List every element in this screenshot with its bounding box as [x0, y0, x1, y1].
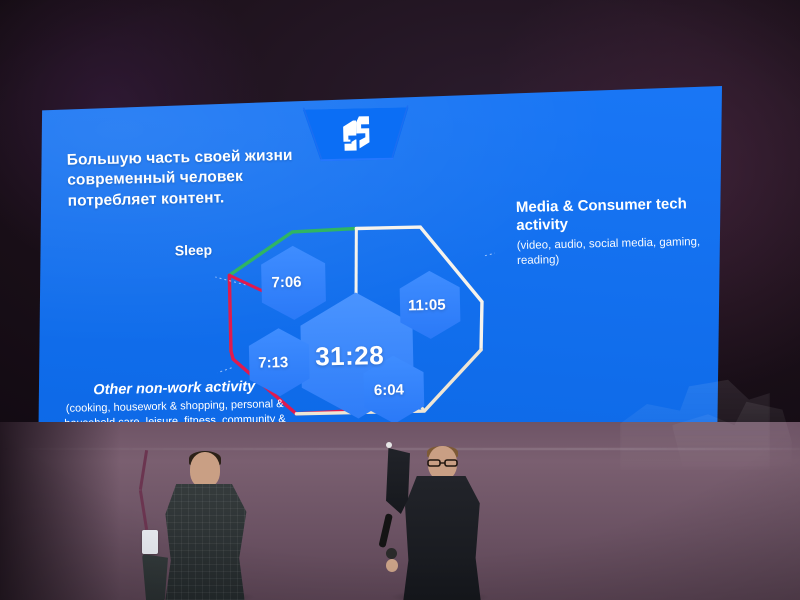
s-logo: [339, 114, 374, 155]
total-hexagon-value: 31:28: [315, 340, 385, 372]
presenter-left-head: [190, 452, 220, 488]
presenter-left-badge: [142, 530, 158, 554]
conference-stage-photo: Большую часть своей жизни современный че…: [0, 0, 800, 600]
microphone-head: [386, 548, 397, 559]
presenter-right-pin: [386, 442, 392, 448]
presenter-left-arm: [142, 554, 168, 600]
glasses-icon: [427, 459, 458, 467]
presenter-right-hand: [386, 559, 398, 572]
other-hexagon-value: 7:13: [258, 354, 288, 372]
media-hexagon-value: 11:05: [408, 297, 446, 315]
presenter-left: [142, 450, 262, 600]
label-media-sub: (video, audio, social media, gaming, rea…: [517, 235, 708, 270]
label-media-title: Media & Consumer tech activity: [516, 195, 707, 235]
presenter-right-jacket: [400, 476, 484, 600]
label-media: Media & Consumer tech activity (video, a…: [516, 195, 707, 270]
label-sleep: Sleep: [175, 242, 213, 259]
presenter-right: [386, 442, 496, 600]
work-hexagon-value: 6:04: [374, 382, 404, 400]
label-other-title: Other non-work activity: [62, 378, 287, 399]
presenter-left-jacket: [160, 484, 250, 600]
sleep-hexagon-value: 7:06: [271, 274, 301, 292]
